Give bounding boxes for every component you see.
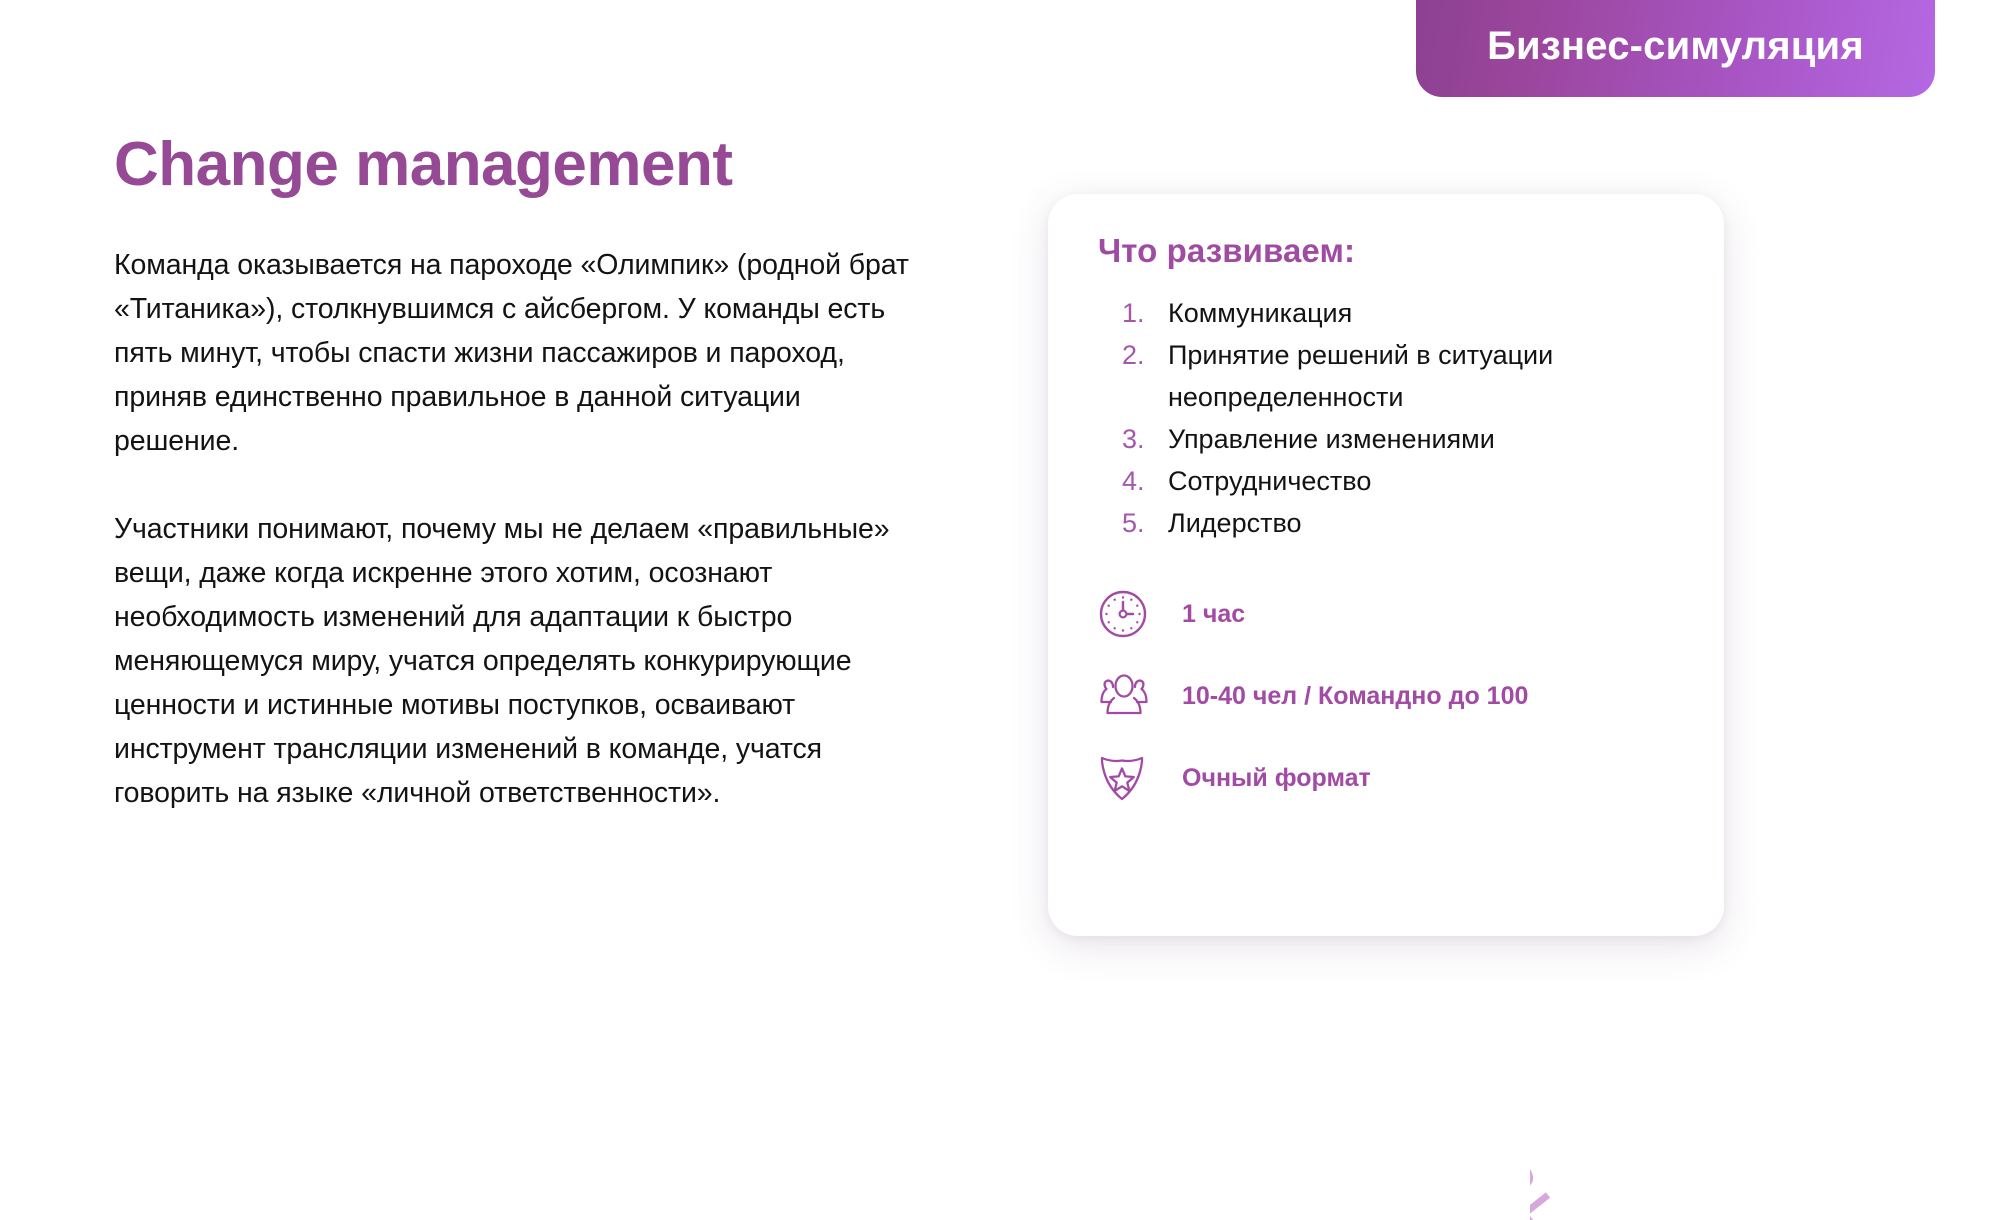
skill-number: 4.: [1122, 460, 1168, 502]
meta-label-duration: 1 час: [1182, 600, 1245, 629]
meta-row-group-size: 10-40 чел / Командно до 100: [1098, 670, 1680, 722]
left-content-column: Change management Команда оказывается на…: [114, 132, 914, 815]
category-badge: Бизнес-симуляция: [1416, 0, 1935, 97]
meta-row-duration: 1 час: [1098, 588, 1680, 640]
list-item: 1. Коммуникация: [1122, 292, 1680, 334]
skill-number: 3.: [1122, 418, 1168, 460]
list-item: 5. Лидерство: [1122, 502, 1680, 544]
description-paragraph-2: Участники понимают, почему мы не делаем …: [114, 507, 914, 815]
shield-star-icon: [1098, 752, 1158, 804]
meta-info-list: 1 час 10-40 чел / Командно до 100 Оч: [1098, 588, 1680, 804]
skill-label: Принятие решений в ситуации неопределенн…: [1168, 334, 1680, 418]
list-item: 2. Принятие решений в ситуации неопредел…: [1122, 334, 1680, 418]
skill-label: Коммуникация: [1168, 292, 1352, 334]
description-paragraph-1: Команда оказывается на пароходе «Олимпик…: [114, 243, 914, 463]
skill-number: 2.: [1122, 334, 1168, 376]
category-badge-label: Бизнес-симуляция: [1487, 24, 1864, 69]
page-title: Change management: [114, 132, 914, 197]
list-item: 3. Управление изменениями: [1122, 418, 1680, 460]
meta-row-format: Очный формат: [1098, 752, 1680, 804]
clock-icon: [1098, 588, 1158, 640]
people-group-icon: [1098, 670, 1158, 722]
skill-label: Управление изменениями: [1168, 418, 1495, 460]
list-item: 4. Сотрудничество: [1122, 460, 1680, 502]
meta-label-format: Очный формат: [1182, 764, 1371, 793]
skills-list: 1. Коммуникация 2. Принятие решений в си…: [1122, 292, 1680, 544]
skill-label: Сотрудничество: [1168, 460, 1371, 502]
meta-label-group-size: 10-40 чел / Командно до 100: [1182, 682, 1528, 711]
skills-card: Что развиваем: 1. Коммуникация 2. Принят…: [1048, 194, 1724, 936]
skill-number: 5.: [1122, 502, 1168, 544]
skill-label: Лидерство: [1168, 502, 1302, 544]
skill-number: 1.: [1122, 292, 1168, 334]
skills-card-title: Что развиваем:: [1098, 232, 1680, 270]
